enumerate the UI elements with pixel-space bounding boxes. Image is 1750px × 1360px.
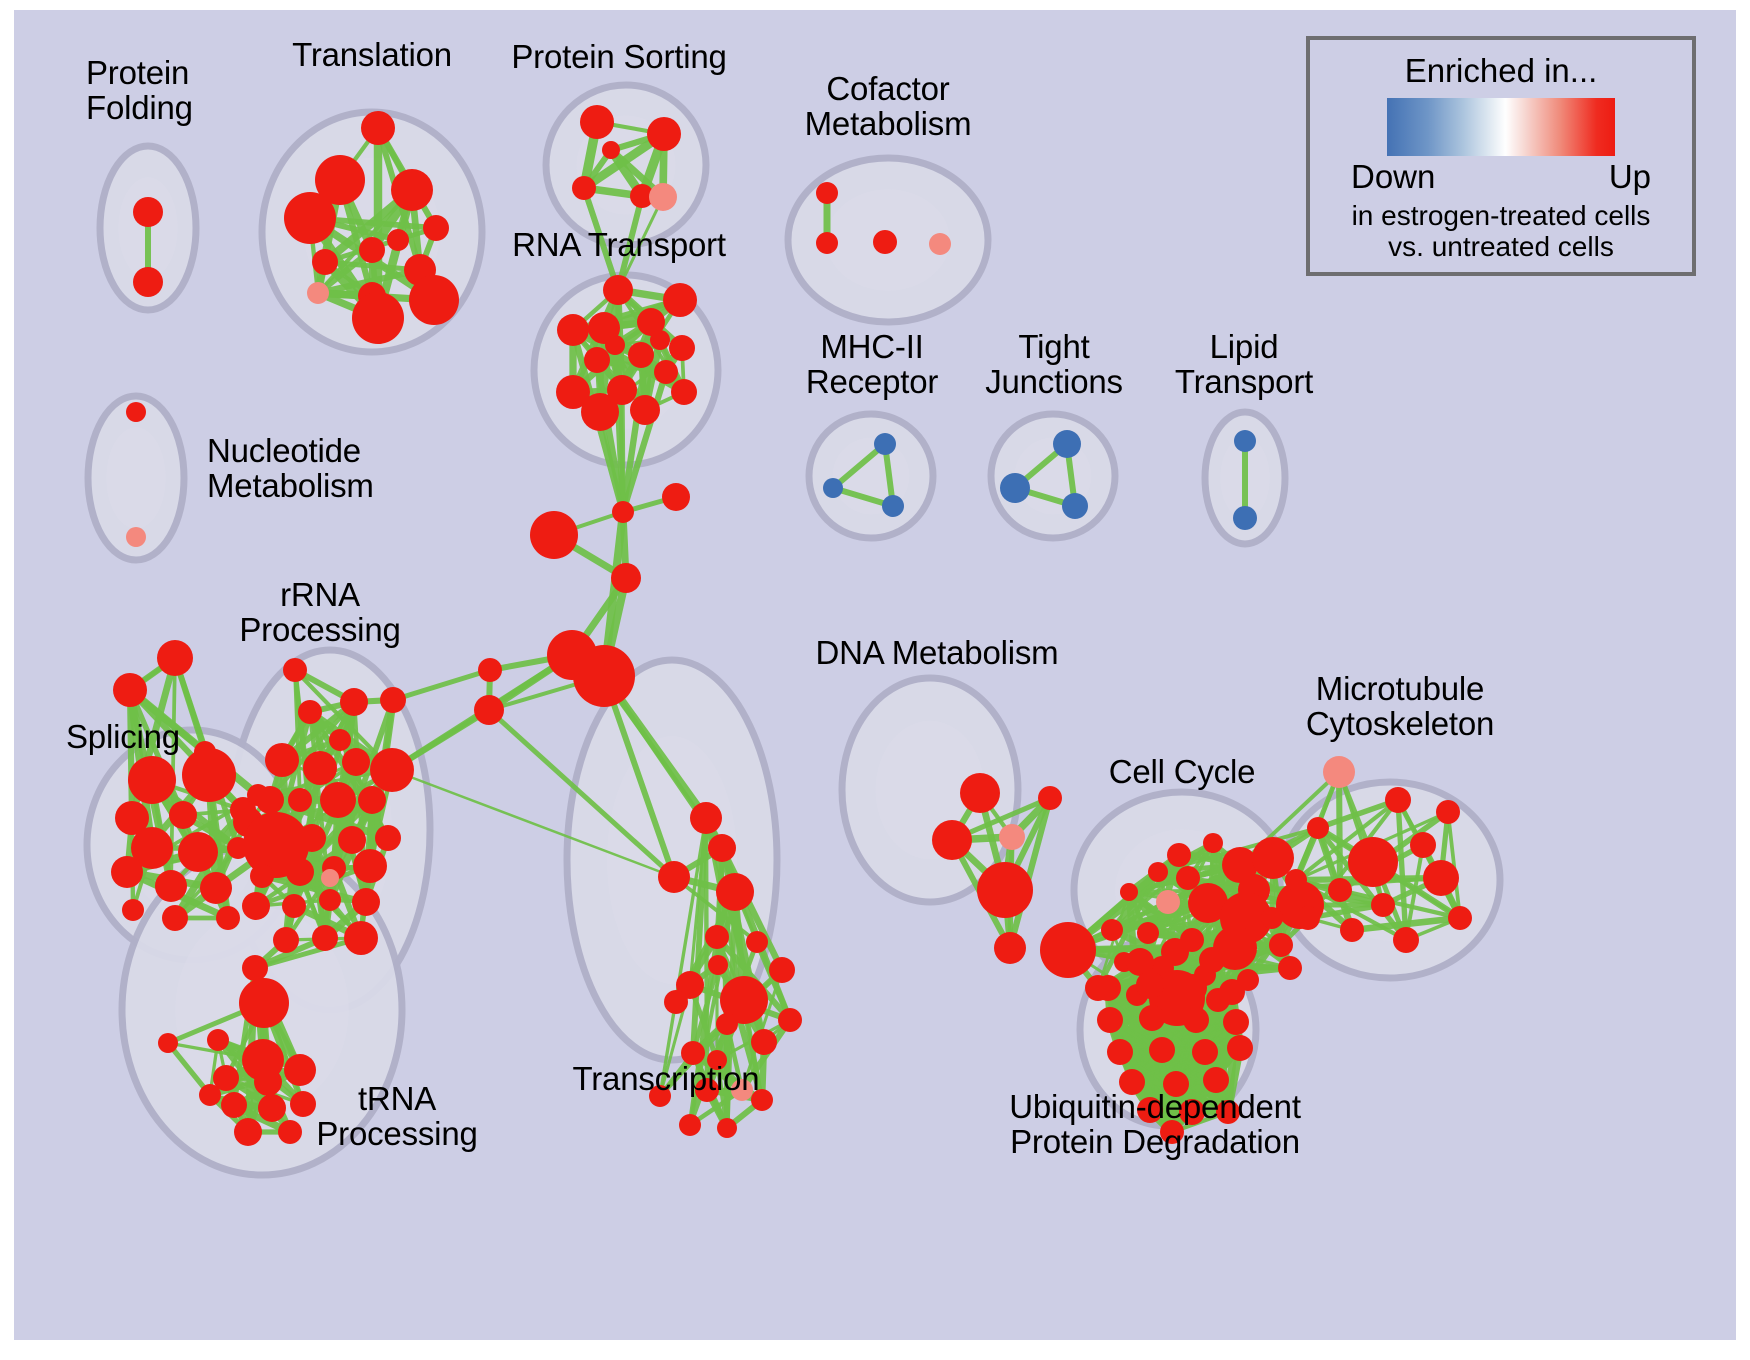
figure-root: Protein FoldingTranslationProtein Sortin… <box>0 0 1750 1360</box>
network-node[interactable] <box>663 283 697 317</box>
network-node[interactable] <box>423 215 449 241</box>
network-node[interactable] <box>530 511 578 559</box>
network-node[interactable] <box>320 782 356 818</box>
network-node[interactable] <box>654 360 678 384</box>
network-node[interactable] <box>1137 922 1159 944</box>
network-node[interactable] <box>716 873 754 911</box>
network-node[interactable] <box>288 788 312 812</box>
network-node[interactable] <box>409 275 459 325</box>
network-node[interactable] <box>1095 975 1121 1001</box>
network-node[interactable] <box>221 1092 247 1118</box>
network-node[interactable] <box>999 824 1025 850</box>
network-node[interactable] <box>370 748 414 792</box>
cluster-label-tight-junctions: Tight Junctions <box>985 330 1123 400</box>
network-node[interactable] <box>1176 866 1200 890</box>
cluster-label-trna-processing: tRNA Processing <box>316 1082 477 1152</box>
network-node[interactable] <box>207 1029 229 1051</box>
network-node[interactable] <box>1192 1039 1218 1065</box>
network-node[interactable] <box>250 864 274 888</box>
cluster-label-cofactor-metabolism: Cofactor Metabolism <box>805 72 972 142</box>
network-node[interactable] <box>283 658 307 682</box>
network-node[interactable] <box>182 748 236 802</box>
legend-subtitle-line-2: vs. untreated cells <box>1310 231 1692 262</box>
network-node[interactable] <box>133 197 163 227</box>
network-node[interactable] <box>662 483 690 511</box>
network-node[interactable] <box>932 820 972 860</box>
network-node[interactable] <box>155 870 187 902</box>
network-node[interactable] <box>1053 430 1081 458</box>
cluster-label-microtubule-cytoskeleton: Microtubule Cytoskeleton <box>1306 672 1494 742</box>
network-node[interactable] <box>1223 1009 1249 1035</box>
network-node[interactable] <box>126 527 146 547</box>
network-node[interactable] <box>1120 883 1138 901</box>
network-node[interactable] <box>329 729 351 751</box>
network-node[interactable] <box>133 267 163 297</box>
network-node[interactable] <box>290 1091 316 1117</box>
network-node[interactable] <box>572 176 596 200</box>
network-node[interactable] <box>1038 786 1062 810</box>
network-node[interactable] <box>162 905 188 931</box>
network-node[interactable] <box>1371 893 1395 917</box>
network-node[interactable] <box>1203 833 1223 853</box>
network-node[interactable] <box>282 894 306 918</box>
network-node[interactable] <box>816 232 838 254</box>
network-node[interactable] <box>359 237 385 263</box>
network-node[interactable] <box>319 889 341 911</box>
network-node[interactable] <box>612 501 634 523</box>
network-node[interactable] <box>342 748 370 776</box>
network-node[interactable] <box>716 1013 738 1035</box>
network-node[interactable] <box>1101 919 1123 941</box>
network-node[interactable] <box>751 1029 777 1055</box>
network-node[interactable] <box>284 192 336 244</box>
network-node[interactable] <box>387 229 409 251</box>
network-node[interactable] <box>929 233 951 255</box>
network-node[interactable] <box>1183 1007 1209 1033</box>
network-node[interactable] <box>705 925 729 949</box>
network-node[interactable] <box>1179 974 1207 1002</box>
network-edge <box>1339 772 1340 890</box>
network-node[interactable] <box>273 927 299 953</box>
network-node[interactable] <box>708 955 728 975</box>
network-node[interactable] <box>960 773 1000 813</box>
cluster-label-mhc-ii-receptor: MHC-II Receptor <box>806 330 938 400</box>
network-node[interactable] <box>874 433 896 455</box>
network-node[interactable] <box>873 230 897 254</box>
network-node[interactable] <box>128 756 176 804</box>
network-node[interactable] <box>1348 837 1398 887</box>
network-node[interactable] <box>778 1008 802 1032</box>
network-node[interactable] <box>256 786 284 814</box>
network-node[interactable] <box>126 402 146 422</box>
network-node[interactable] <box>1227 1035 1253 1061</box>
legend-subtitle-line-1: in estrogen-treated cells <box>1310 200 1692 231</box>
network-node[interactable] <box>380 687 406 713</box>
network-node[interactable] <box>265 743 299 777</box>
network-node[interactable] <box>664 990 688 1014</box>
network-node[interactable] <box>321 869 339 887</box>
legend-up-label: Up <box>1609 158 1651 196</box>
network-node[interactable] <box>611 563 641 593</box>
network-node[interactable] <box>573 645 635 707</box>
network-node[interactable] <box>669 335 695 361</box>
network-node[interactable] <box>234 1118 262 1146</box>
network-node[interactable] <box>242 955 268 981</box>
network-node[interactable] <box>580 105 614 139</box>
network-node[interactable] <box>254 1068 282 1096</box>
cluster-label-nucleotide-metabolism: Nucleotide Metabolism <box>207 434 374 504</box>
cluster-label-splicing: Splicing <box>66 720 180 755</box>
network-node[interactable] <box>242 892 270 920</box>
cluster-label-rna-transport: RNA Transport <box>512 228 726 263</box>
network-node[interactable] <box>1136 971 1164 999</box>
network-node[interactable] <box>1448 906 1472 930</box>
network-node[interactable] <box>1161 938 1189 966</box>
network-node[interactable] <box>361 111 395 145</box>
network-node[interactable] <box>882 495 904 517</box>
network-node[interactable] <box>307 282 329 304</box>
network-node[interactable] <box>746 931 768 953</box>
network-node[interactable] <box>1219 979 1245 1005</box>
network-node[interactable] <box>1062 493 1088 519</box>
network-node[interactable] <box>312 925 338 951</box>
network-node[interactable] <box>1285 869 1307 891</box>
network-node[interactable] <box>1097 1007 1123 1033</box>
network-node[interactable] <box>158 1033 178 1053</box>
network-node[interactable] <box>113 673 147 707</box>
network-node[interactable] <box>671 379 697 405</box>
network-node[interactable] <box>1148 862 1168 882</box>
network-node[interactable] <box>769 957 795 983</box>
network-node[interactable] <box>303 751 337 785</box>
network-node[interactable] <box>178 832 218 872</box>
network-node[interactable] <box>169 801 197 829</box>
legend-box: Enriched in... Down Up in estrogen-treat… <box>1306 36 1696 276</box>
network-node[interactable] <box>581 393 619 431</box>
network-node[interactable] <box>338 826 366 854</box>
network-node[interactable] <box>284 1054 316 1086</box>
network-node[interactable] <box>1410 832 1436 858</box>
network-node[interactable] <box>1233 506 1257 530</box>
network-node[interactable] <box>717 1118 737 1138</box>
network-node[interactable] <box>157 640 193 676</box>
network-node[interactable] <box>1436 800 1460 824</box>
network-node[interactable] <box>1296 906 1320 930</box>
network-node[interactable] <box>557 314 589 346</box>
network-node[interactable] <box>286 858 314 886</box>
legend-down-label: Down <box>1351 158 1435 196</box>
network-node[interactable] <box>658 861 690 893</box>
network-node[interactable] <box>1423 860 1459 896</box>
network-node[interactable] <box>298 824 326 852</box>
network-node[interactable] <box>708 834 736 862</box>
cluster-hull-mhc-ii-receptor <box>809 414 933 538</box>
network-node[interactable] <box>1307 817 1329 839</box>
network-node[interactable] <box>1139 1005 1165 1031</box>
network-node[interactable] <box>353 849 387 883</box>
network-node[interactable] <box>1167 843 1191 867</box>
network-node[interactable] <box>1156 890 1180 914</box>
network-node[interactable] <box>628 342 654 368</box>
network-node[interactable] <box>1149 1037 1175 1063</box>
network-node[interactable] <box>216 906 240 930</box>
network-node[interactable] <box>199 1084 221 1106</box>
network-node[interactable] <box>258 1094 286 1122</box>
network-node[interactable] <box>278 1120 302 1144</box>
network-node[interactable] <box>630 395 660 425</box>
network-node[interactable] <box>1199 947 1225 973</box>
network-node[interactable] <box>690 802 722 834</box>
network-node[interactable] <box>647 117 681 151</box>
cluster-label-ubiquitin-degradation: Ubiquitin-dependent Protein Degradation <box>1009 1090 1301 1160</box>
network-node[interactable] <box>823 478 843 498</box>
network-node[interactable] <box>111 856 143 888</box>
network-node[interactable] <box>1340 918 1364 942</box>
network-node[interactable] <box>679 1114 701 1136</box>
network-node[interactable] <box>1000 473 1030 503</box>
network-node[interactable] <box>344 921 378 955</box>
network-node[interactable] <box>1040 922 1096 978</box>
network-node[interactable] <box>1278 956 1302 980</box>
network-node[interactable] <box>375 825 401 851</box>
network-node[interactable] <box>816 182 838 204</box>
cluster-label-cell-cycle: Cell Cycle <box>1109 755 1256 790</box>
network-node[interactable] <box>1385 787 1411 813</box>
network-node[interactable] <box>994 932 1026 964</box>
cluster-label-lipid-transport: Lipid Transport <box>1175 330 1313 400</box>
network-node[interactable] <box>358 786 386 814</box>
network-node[interactable] <box>603 275 633 305</box>
network-node[interactable] <box>474 695 504 725</box>
network-node[interactable] <box>239 978 289 1028</box>
network-node[interactable] <box>1393 927 1419 953</box>
network-node[interactable] <box>584 347 610 373</box>
network-node[interactable] <box>352 888 380 916</box>
network-node[interactable] <box>1328 878 1352 902</box>
network-node[interactable] <box>391 169 433 211</box>
network-node[interactable] <box>352 292 404 344</box>
cluster-label-dna-metabolism: DNA Metabolism <box>816 636 1059 671</box>
network-node[interactable] <box>977 862 1033 918</box>
network-node[interactable] <box>1252 837 1294 879</box>
network-node[interactable] <box>1323 756 1355 788</box>
network-node[interactable] <box>298 700 322 724</box>
cluster-label-transcription: Transcription <box>573 1062 760 1097</box>
legend-colorbar <box>1387 98 1615 156</box>
cluster-label-translation: Translation <box>292 38 452 73</box>
network-node[interactable] <box>602 141 620 159</box>
legend-title: Enriched in... <box>1310 52 1692 90</box>
network-node[interactable] <box>1234 430 1256 452</box>
cluster-label-rrna-processing: rRNA Processing <box>239 578 400 648</box>
network-node[interactable] <box>1261 907 1283 929</box>
network-node[interactable] <box>1269 933 1293 957</box>
network-node[interactable] <box>122 899 144 921</box>
network-node[interactable] <box>649 183 677 211</box>
network-node[interactable] <box>605 335 625 355</box>
cluster-label-protein-sorting: Protein Sorting <box>511 40 726 75</box>
network-node[interactable] <box>312 249 338 275</box>
network-node[interactable] <box>200 872 232 904</box>
network-node[interactable] <box>340 688 368 716</box>
network-node[interactable] <box>478 658 502 682</box>
network-node[interactable] <box>650 330 670 350</box>
cluster-label-protein-folding: Protein Folding <box>86 56 193 126</box>
network-node[interactable] <box>1107 1039 1133 1065</box>
